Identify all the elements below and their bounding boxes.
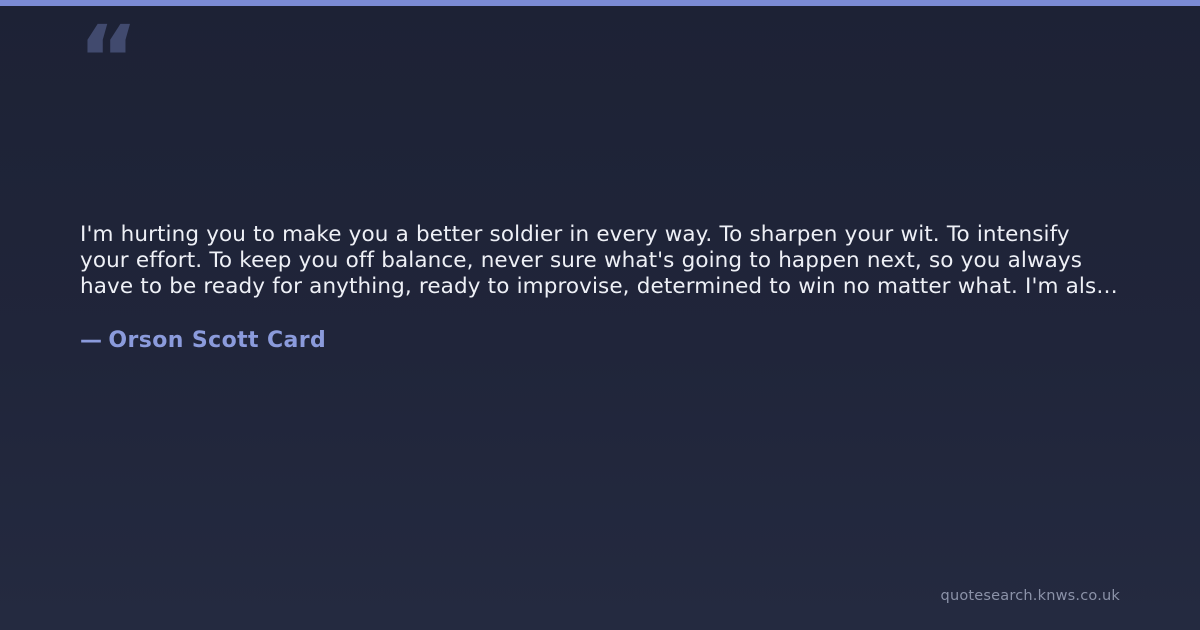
- top-accent-bar: [0, 0, 1200, 6]
- author-dash: —: [80, 328, 102, 353]
- author-name: Orson Scott Card: [108, 328, 326, 353]
- quote-author: —Orson Scott Card: [80, 328, 1120, 353]
- quote-card: “ I'm hurting you to make you a better s…: [0, 0, 1200, 630]
- open-quote-icon: “: [78, 14, 136, 106]
- site-attribution: quotesearch.knws.co.uk: [941, 588, 1120, 604]
- quote-text: I'm hurting you to make you a better sol…: [80, 222, 1120, 299]
- quote-content: I'm hurting you to make you a better sol…: [80, 222, 1120, 353]
